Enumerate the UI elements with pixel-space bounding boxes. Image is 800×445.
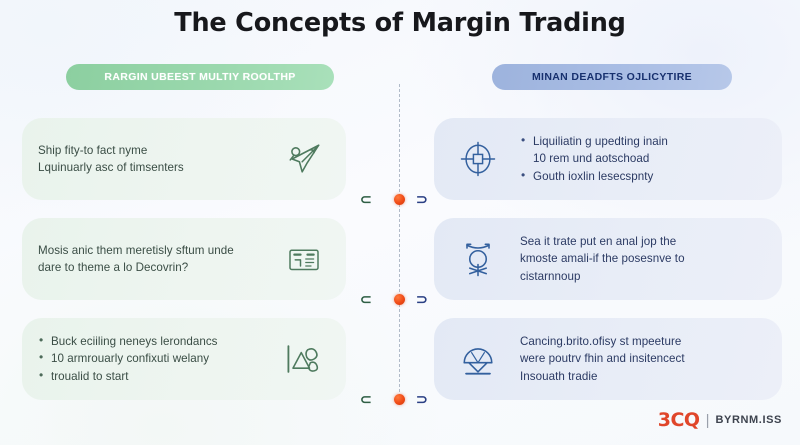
brand-logo-mark: 3CQ (658, 409, 700, 431)
column-header-left: RARGIN UBEEST MULTIY ROOLTHP (66, 64, 334, 90)
right-card-1[interactable]: Liquiliatin g upedting inain 10 rem und … (434, 118, 782, 200)
connector-3-dot (394, 394, 405, 405)
connector-3-left-chevron: ⊂ (360, 392, 372, 406)
right-card-3-line-2: were poutrv fhin and insitencect (520, 350, 685, 367)
right-card-1-item-3: Gouth ioxlin lesecspnty (520, 168, 668, 185)
left-card-2-line-1: Mosis anic them meretisly sftum unde (38, 242, 234, 259)
brand-footer: 3CQ | BYRNM.ISS (658, 409, 782, 431)
connector-2-dot (394, 294, 405, 305)
right-card-2-line-2: kmoste amali-if the posesnve to (520, 250, 685, 267)
column-header-right: MINAN DEADFTS OJLICYTIRE (492, 64, 732, 90)
gauge-meter-icon (452, 333, 504, 385)
left-card-3-item-1: Buck eciiling neneys lerondancs (38, 333, 218, 350)
right-card-3-line-3: Insouath tradie (520, 368, 685, 385)
concept-row-1: Ship fity-to fact nyme Lquinuarly asc of… (0, 118, 800, 200)
left-card-3-text: Buck eciiling neneys lerondancs 10 armro… (38, 333, 218, 384)
paper-plane-icon (278, 133, 330, 185)
left-card-1[interactable]: Ship fity-to fact nyme Lquinuarly asc of… (22, 118, 346, 200)
left-card-1-line-2: Lquinuarly asc of timsenters (38, 159, 184, 176)
id-card-icon (278, 233, 330, 285)
right-card-2-line-1: Sea it trate put en anal jop the (520, 233, 685, 250)
concept-row-2: Mosis anic them meretisly sftum unde dar… (0, 218, 800, 300)
left-card-3[interactable]: Buck eciiling neneys lerondancs 10 armro… (22, 318, 346, 400)
connector-2-right-chevron: ⊃ (416, 292, 428, 306)
column-header-right-label: MINAN DEADFTS OJLICYTIRE (532, 71, 692, 83)
balloon-arrows-icon (452, 233, 504, 285)
right-card-2-line-3: cistarnnoup (520, 268, 685, 285)
left-card-3-item-3: troualid to start (38, 368, 218, 385)
right-card-3-line-1: Cancing.brito.ofisy st mpeeture (520, 333, 685, 350)
concept-row-3: Buck eciiling neneys lerondancs 10 armro… (0, 318, 800, 400)
right-card-1-list: Liquiliatin g upedting inain 10 rem und … (520, 133, 668, 184)
left-card-2-text: Mosis anic them meretisly sftum unde dar… (38, 242, 234, 276)
brand-separator: | (706, 412, 710, 429)
left-card-3-item-2: 10 armrouarly confixuti welany (38, 350, 218, 367)
right-card-1-item-2: 10 rem und aotschoad (520, 150, 668, 167)
left-card-1-text: Ship fity-to fact nyme Lquinuarly asc of… (38, 142, 184, 176)
right-card-3[interactable]: Cancing.brito.ofisy st mpeeture were pou… (434, 318, 782, 400)
connector-3-right-chevron: ⊃ (416, 392, 428, 406)
left-card-2-line-2: dare to theme a lo Decovrin? (38, 259, 234, 276)
right-card-2-text: Sea it trate put en anal jop the kmoste … (520, 233, 685, 284)
left-card-2[interactable]: Mosis anic them meretisly sftum unde dar… (22, 218, 346, 300)
connector-1-dot (394, 194, 405, 205)
left-card-3-list: Buck eciiling neneys lerondancs 10 armro… (38, 333, 218, 384)
right-card-1-item-1: Liquiliatin g upedting inain (520, 133, 668, 150)
page-title: The Concepts of Margin Trading (0, 8, 800, 38)
connector-1-right-chevron: ⊃ (416, 192, 428, 206)
brand-name-label: BYRNM.ISS (715, 414, 782, 426)
crosshair-target-icon (452, 133, 504, 185)
column-header-left-label: RARGIN UBEEST MULTIY ROOLTHP (104, 71, 295, 83)
right-card-3-text: Cancing.brito.ofisy st mpeeture were pou… (520, 333, 685, 384)
connector-2-left-chevron: ⊂ (360, 292, 372, 306)
right-card-2[interactable]: Sea it trate put en anal jop the kmoste … (434, 218, 782, 300)
connector-1-left-chevron: ⊂ (360, 192, 372, 206)
infographic-canvas: The Concepts of Margin Trading RARGIN UB… (0, 0, 800, 445)
mountains-icon (278, 333, 330, 385)
right-card-1-text: Liquiliatin g upedting inain 10 rem und … (520, 133, 668, 184)
left-card-1-line-1: Ship fity-to fact nyme (38, 142, 184, 159)
